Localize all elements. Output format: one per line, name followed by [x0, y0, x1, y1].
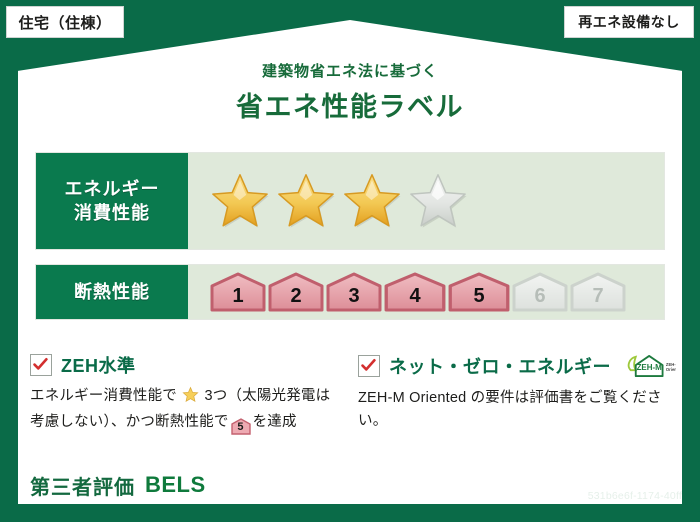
- insulation-level-chips: 1234567: [210, 272, 626, 312]
- insulation-performance-label-box: 断熱性能: [36, 265, 188, 319]
- inline-level-chip-value: 5: [231, 418, 251, 437]
- title-main: 省エネ性能ラベル: [0, 85, 700, 124]
- nzeb-checkbox[interactable]: [358, 355, 380, 377]
- bels-badge: 第三者評価 BELS: [18, 468, 218, 502]
- zeh-standard-block: ZEH水準 エネルギー消費性能で 3つ（太陽光発電は考慮しない）、かつ断熱性能で…: [30, 352, 335, 435]
- star-rating: [188, 153, 664, 249]
- insulation-level-value: 6: [534, 286, 545, 312]
- insulation-level-value: 4: [409, 286, 420, 312]
- insulation-level-chip: 6: [512, 272, 568, 312]
- inline-level-chip: 5: [231, 418, 251, 435]
- insulation-level-value: 5: [473, 286, 484, 312]
- title-subtitle: 建築物省エネ法に基づく: [0, 60, 700, 81]
- svg-text:Oriented: Oriented: [666, 367, 676, 372]
- insulation-level-value: 1: [232, 286, 243, 312]
- insulation-level-chip: 5: [448, 272, 510, 312]
- bels-english-label: BELS: [145, 472, 206, 498]
- energy-label-line2: 消費性能: [74, 201, 150, 225]
- nzeb-description: ZEH-M Oriented の要件は評価書をご覧ください。: [358, 387, 663, 434]
- insulation-level-chip: 7: [570, 272, 626, 312]
- star-empty-icon: [408, 172, 468, 230]
- insulation-level-chip: 3: [326, 272, 382, 312]
- building-type-tag: 住宅（住棟）: [6, 6, 124, 38]
- zeh-desc-part1: エネルギー消費性能で: [30, 388, 177, 404]
- insulation-level-chip: 1: [210, 272, 266, 312]
- insulation-level-chip: 2: [268, 272, 324, 312]
- page-title: 建築物省エネ法に基づく 省エネ性能ラベル: [0, 60, 700, 124]
- insulation-level-chip: 4: [384, 272, 446, 312]
- nzeb-heading: ネット・ゼロ・エネルギー ZEH-M ZEH-M Oriented: [358, 352, 663, 380]
- insulation-level-value: 7: [592, 286, 603, 312]
- energy-performance-label: 住宅（住棟） 再エネ設備なし 建築物省エネ法に基づく 省エネ性能ラベル エネルギ…: [0, 0, 700, 522]
- energy-performance-label-box: エネルギー 消費性能: [36, 153, 188, 249]
- nzeb-title: ネット・ゼロ・エネルギー: [389, 353, 611, 379]
- insulation-level-value: 3: [348, 286, 359, 312]
- net-zero-energy-block: ネット・ゼロ・エネルギー ZEH-M ZEH-M Oriented ZEH-M …: [358, 352, 663, 434]
- energy-label-line1: エネルギー: [65, 177, 160, 201]
- energy-performance-row: エネルギー 消費性能: [35, 152, 665, 250]
- footer: 第三者評価 BELS ロータスヒルA 評価日 2024年12月6日 531b6e…: [0, 460, 700, 522]
- evaluation-date: 評価日 2024年12月6日: [525, 468, 682, 489]
- renewable-equipment-tag: 再エネ設備なし: [564, 6, 694, 38]
- star-filled-icon: [210, 172, 270, 230]
- zeh-heading: ZEH水準: [30, 352, 335, 378]
- star-filled-icon: [276, 172, 336, 230]
- zeh-desc-part3: を達成: [253, 414, 297, 430]
- zeh-title: ZEH水準: [61, 352, 136, 378]
- star-filled-icon: [342, 172, 402, 230]
- zeh-checkbox[interactable]: [30, 354, 52, 376]
- building-name: ロータスヒルA: [245, 476, 349, 497]
- evaluation-id: 531b6e6f-1174-40ff: [588, 490, 682, 502]
- insulation-label-line1: 断熱性能: [74, 280, 150, 304]
- inline-star-icon: [178, 391, 203, 407]
- insulation-level-value: 2: [290, 286, 301, 312]
- bels-japanese-label: 第三者評価: [30, 471, 135, 500]
- zeh-description: エネルギー消費性能で 3つ（太陽光発電は考慮しない）、かつ断熱性能で 5 を達成: [30, 385, 335, 435]
- insulation-performance-row: 断熱性能 1234567: [35, 264, 665, 320]
- insulation-scale: 1234567: [188, 265, 664, 319]
- zeh-m-oriented-logo: ZEH-M ZEH-M Oriented: [624, 352, 676, 380]
- svg-text:ZEH-M: ZEH-M: [637, 363, 663, 372]
